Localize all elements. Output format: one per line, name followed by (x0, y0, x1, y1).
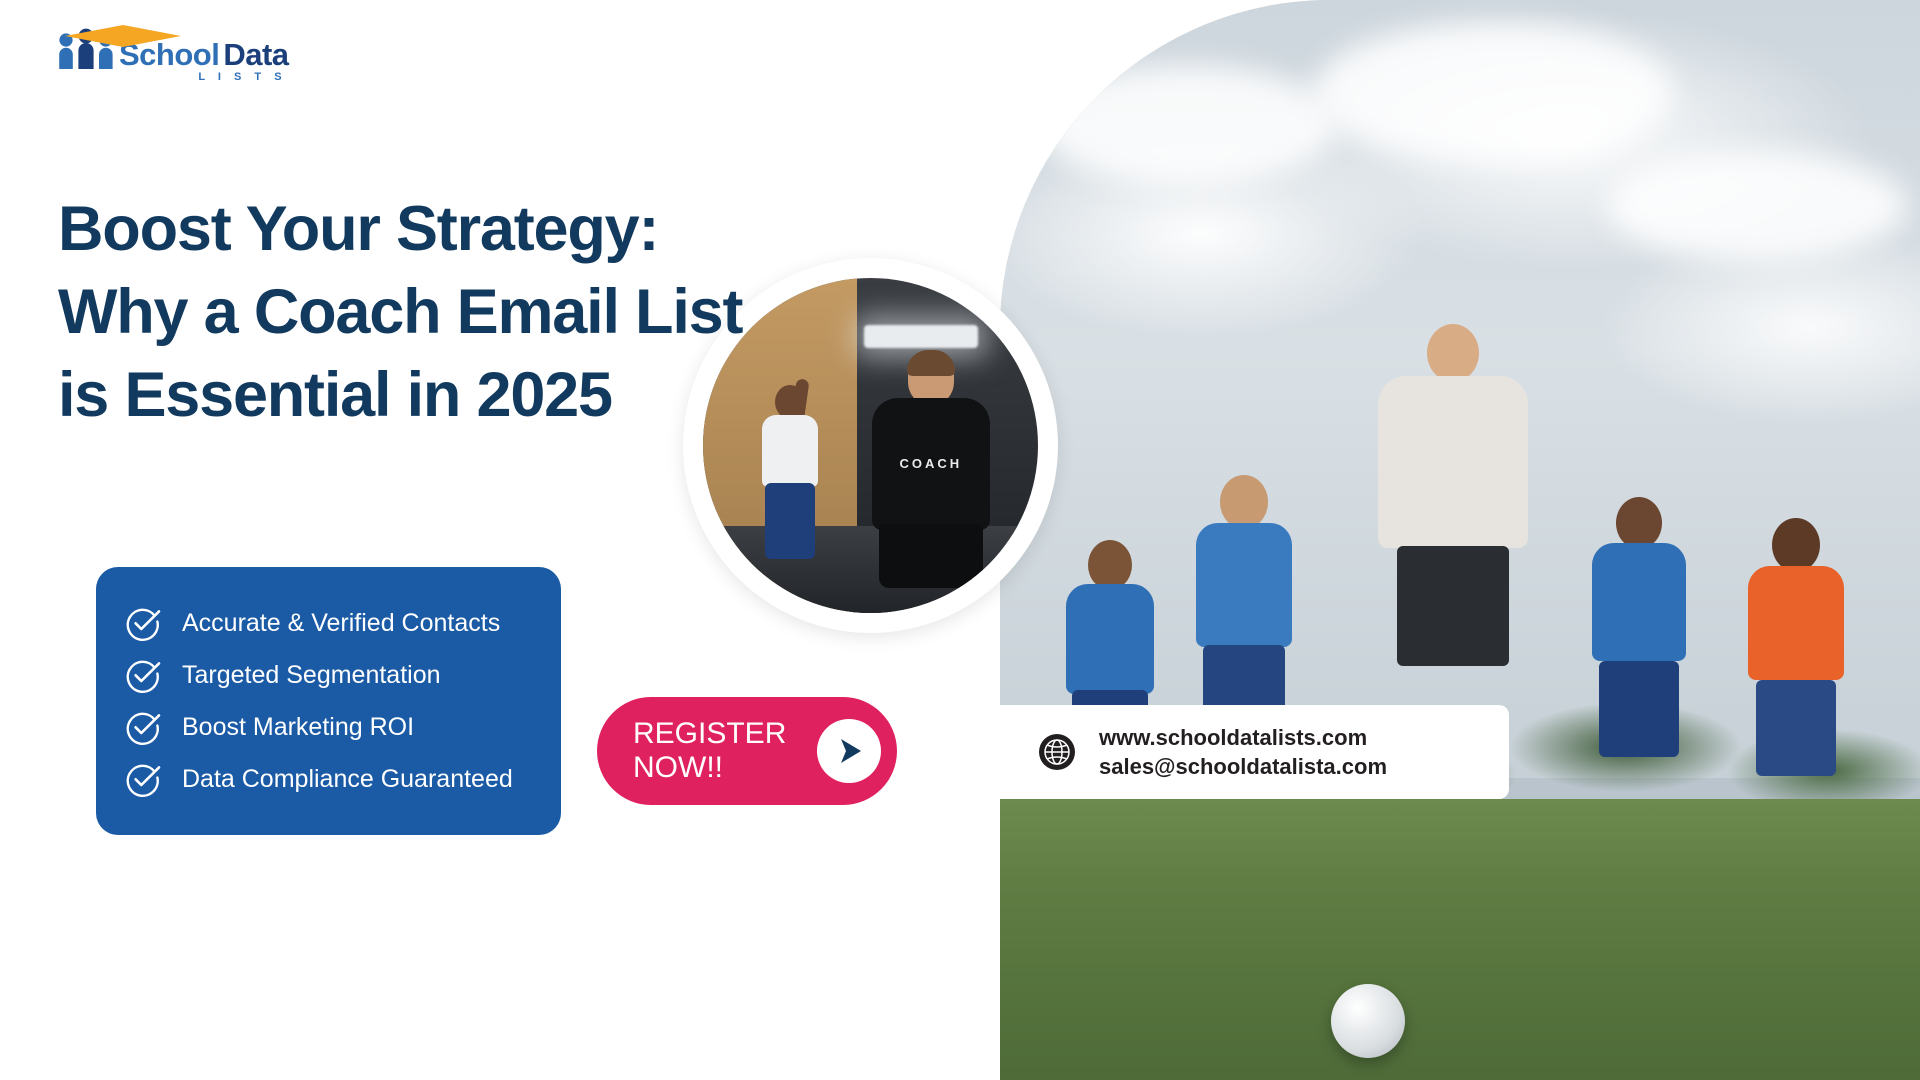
coach-figure (1368, 324, 1538, 1037)
main-photo-panel (1000, 0, 1920, 1080)
check-circle-icon (124, 708, 162, 746)
gym-light (864, 325, 978, 348)
benefit-item: Boost Marketing ROI (96, 701, 561, 753)
benefit-label: Accurate & Verified Contacts (182, 609, 500, 638)
coach-back-figure: COACH (844, 352, 1018, 613)
website-text[interactable]: www.schooldatalists.com (1099, 724, 1387, 752)
coach-team-photo (1000, 0, 1920, 1080)
benefits-card: Accurate & Verified Contacts Targeted Se… (96, 567, 561, 835)
coach-shirt-text: COACH (899, 456, 962, 471)
player-figure (1736, 518, 1856, 1036)
play-arrow-icon[interactable] (817, 719, 881, 783)
benefit-item: Data Compliance Guaranteed (96, 753, 561, 805)
brand-logo[interactable]: School Data L I S T S (57, 26, 289, 83)
email-text[interactable]: sales@schooldatalista.com (1099, 753, 1387, 781)
benefit-label: Targeted Segmentation (182, 661, 441, 690)
athlete-figure (750, 385, 830, 593)
page-title: Boost Your Strategy: Why a Coach Email L… (58, 188, 758, 437)
player-figure (1580, 497, 1698, 1037)
cloud-shape (1607, 151, 1907, 261)
logo-subtitle: L I S T S (198, 71, 286, 83)
cloud-shape (1037, 65, 1337, 185)
benefit-label: Boost Marketing ROI (182, 713, 414, 742)
cloud-shape (1313, 22, 1673, 162)
globe-icon (1037, 732, 1077, 772)
logo-text-data: Data (223, 39, 288, 70)
contact-bar: www.schooldatalists.com sales@schooldata… (897, 705, 1509, 799)
benefit-item: Accurate & Verified Contacts (96, 597, 561, 649)
check-circle-icon (124, 760, 162, 798)
cta-line-1: REGISTER (633, 717, 786, 751)
benefit-label: Data Compliance Guaranteed (182, 765, 513, 794)
cta-line-2: NOW!! (633, 751, 786, 785)
register-now-button[interactable]: REGISTER NOW!! (597, 697, 897, 805)
benefit-item: Targeted Segmentation (96, 649, 561, 701)
check-circle-icon (124, 604, 162, 642)
check-circle-icon (124, 656, 162, 694)
banner-canvas: COACH (0, 0, 1920, 1080)
graduation-cap-icon (63, 24, 183, 55)
